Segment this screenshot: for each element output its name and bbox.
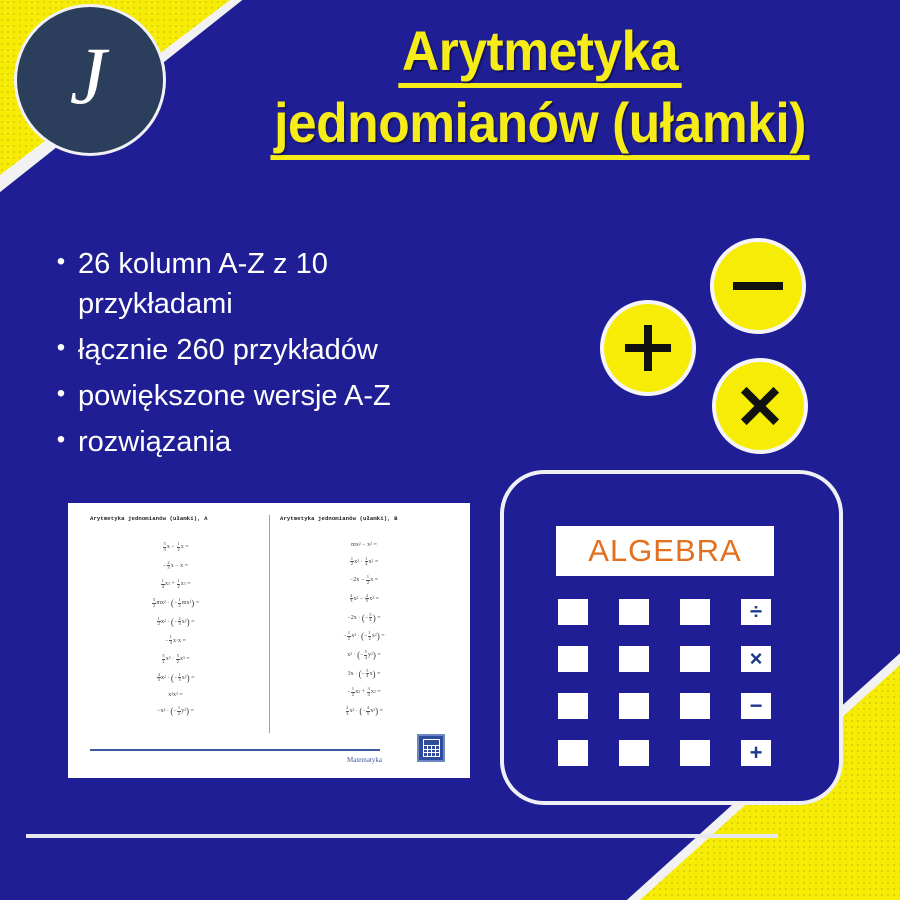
- worksheet-expression: −13x·x =: [165, 635, 186, 645]
- calculator-key[interactable]: [619, 740, 649, 766]
- worksheet-expression: −23x − x =: [163, 561, 188, 571]
- plus-circle-badge: [600, 300, 696, 396]
- calculator-key-divide[interactable]: ÷: [741, 599, 771, 625]
- list-item: • łącznie 260 przykładów: [44, 330, 484, 370]
- worksheet-footer: Matematyka: [90, 749, 446, 764]
- worksheet-expression: 12x2 · (−23x2) =: [157, 617, 195, 627]
- calculator-display-text: ALGEBRA: [588, 533, 741, 569]
- calculator-display: ALGEBRA: [556, 526, 774, 576]
- worksheet-column-a: Arytmetyka jednomianów (ułamki), A 53x −…: [82, 515, 269, 733]
- list-item: • rozwiązania: [44, 422, 484, 462]
- worksheet-footer-rule: [90, 749, 380, 751]
- list-item-label: łącznie 260 przykładów: [78, 330, 484, 370]
- worksheet-column-b-expressions: mx2 − x2 = 12x2 · 14x2 = −2x − 12x = 43x…: [280, 542, 448, 716]
- calculator-keypad: ÷ × − +: [558, 599, 780, 766]
- worksheet-columns: Arytmetyka jednomianów (ułamki), A 53x −…: [82, 515, 456, 733]
- worksheet-expression: 52x3 · 52x3 =: [161, 654, 190, 664]
- worksheet-expression: 3x · (−54x) =: [348, 669, 381, 679]
- calculator-key[interactable]: [680, 740, 710, 766]
- calculator-icon-glyph: [423, 739, 440, 757]
- title-line-2: jednomianów (ułamki): [270, 94, 809, 160]
- times-circle-badge: [712, 358, 808, 454]
- worksheet-expression: x2 · (−54y2) =: [347, 650, 380, 660]
- worksheet-column-a-title: Arytmetyka jednomianów (ułamki), A: [90, 515, 261, 522]
- calculator-key[interactable]: [680, 646, 710, 672]
- times-icon: [734, 380, 786, 432]
- calculator-key[interactable]: [619, 646, 649, 672]
- calculator-key-multiply[interactable]: ×: [741, 646, 771, 672]
- brand-logo: J: [14, 4, 166, 156]
- calculator-key[interactable]: [558, 740, 588, 766]
- worksheet-preview: Arytmetyka jednomianów (ułamki), A 53x −…: [68, 503, 470, 778]
- calculator-icon: [417, 734, 445, 762]
- worksheet-expression: x2x3 =: [168, 692, 183, 698]
- page-title: Arytmetyka jednomianów (ułamki): [190, 22, 890, 160]
- worksheet-expression: −2x − 12x =: [350, 575, 378, 585]
- worksheet-expression: −x2 · (−12y2) =: [157, 706, 194, 716]
- list-item-label: powiększone wersje A-Z: [78, 376, 484, 416]
- list-item: • powiększone wersje A-Z: [44, 376, 484, 416]
- calculator-key-plus[interactable]: +: [741, 740, 771, 766]
- calculator-key[interactable]: [558, 599, 588, 625]
- calculator-key-minus[interactable]: −: [741, 693, 771, 719]
- worksheet-expression: 53x − 12x =: [162, 542, 188, 552]
- worksheet-expression: 43x2 · (−13x2) =: [157, 673, 195, 683]
- list-item: • 26 kolumn A-Z z 10 przykładami: [44, 244, 484, 324]
- worksheet-expression: 23x2 · (−45x2) =: [345, 706, 383, 716]
- worksheet-column-a-expressions: 53x − 12x = −23x − x = 14x3 + 12x3 = 52m…: [90, 542, 261, 716]
- bottom-divider-line: [26, 834, 778, 838]
- worksheet-column-b-title: Arytmetyka jednomianów (ułamki), B: [280, 515, 448, 522]
- worksheet-expression: mx2 − x2 =: [351, 542, 377, 548]
- worksheet-expression: 43x2 − 25x2 =: [349, 594, 379, 604]
- poster-canvas: J Arytmetyka jednomianów (ułamki) • 26 k…: [0, 0, 900, 900]
- minus-icon: [730, 260, 786, 312]
- feature-list: • 26 kolumn A-Z z 10 przykładami • łączn…: [44, 244, 484, 468]
- title-line-1: Arytmetyka: [398, 22, 681, 88]
- worksheet-column-b: Arytmetyka jednomianów (ułamki), B mx2 −…: [269, 515, 456, 733]
- bullet-marker-icon: •: [44, 244, 78, 280]
- logo-letter: J: [70, 35, 110, 125]
- calculator-key[interactable]: [619, 599, 649, 625]
- worksheet-expression: 52mx2 · (−12mx2) =: [152, 598, 199, 608]
- worksheet-expression: −2x · (−54) =: [347, 613, 380, 623]
- list-item-label: 26 kolumn A-Z z 10 przykładami: [78, 244, 484, 324]
- worksheet-footer-label: Matematyka: [90, 756, 382, 764]
- calculator-key[interactable]: [558, 646, 588, 672]
- worksheet-expression: −12x2 · (−12x2) =: [343, 631, 384, 641]
- calculator-key[interactable]: [558, 693, 588, 719]
- bullet-marker-icon: •: [44, 330, 78, 366]
- calculator-key[interactable]: [619, 693, 649, 719]
- minus-circle-badge: [710, 238, 806, 334]
- calculator-key[interactable]: [680, 599, 710, 625]
- bullet-marker-icon: •: [44, 376, 78, 412]
- worksheet-expression: −12x2 + 34x2 =: [347, 687, 380, 697]
- worksheet-expression: 12x2 · 14x2 =: [350, 557, 379, 567]
- plus-icon: [622, 322, 674, 374]
- worksheet-expression: 14x3 + 12x3 =: [161, 579, 191, 589]
- calculator-graphic: ALGEBRA ÷ × − +: [500, 470, 843, 805]
- bullet-marker-icon: •: [44, 422, 78, 458]
- list-item-label: rozwiązania: [78, 422, 484, 462]
- calculator-key[interactable]: [680, 693, 710, 719]
